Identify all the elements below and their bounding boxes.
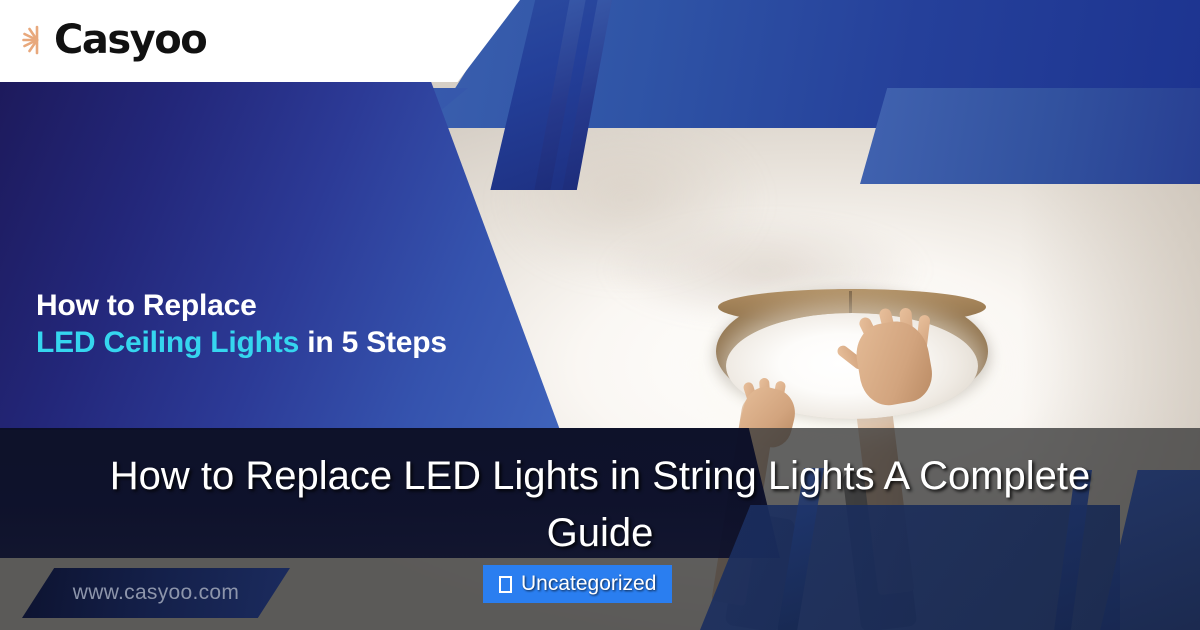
banner-headline-line1: How to Replace (36, 288, 536, 323)
watermark-url: www.casyoo.com (73, 581, 239, 605)
category-badge-label: Uncategorized (521, 572, 656, 596)
logo-wordmark: Casyoo (54, 20, 206, 60)
missing-glyph-box-icon (499, 576, 512, 593)
banner-headline-accent: LED Ceiling Lights (36, 326, 299, 359)
banner-headline-rest: in 5 Steps (299, 326, 447, 359)
banner-headline-line2: LED Ceiling Lights in 5 Steps (36, 325, 536, 360)
page-title: How to Replace LED Lights in String Ligh… (100, 448, 1100, 562)
og-card: How to Replace LED Ceiling Lights in 5 S… (0, 0, 1200, 630)
category-badge[interactable]: Uncategorized (483, 565, 672, 603)
blue-trapezoid-right (860, 88, 1200, 184)
site-logo[interactable]: Casyoo (22, 16, 206, 64)
site-watermark: www.casyoo.com (22, 568, 290, 618)
sunburst-icon (22, 25, 52, 55)
banner-text: How to Replace LED Ceiling Lights in 5 S… (36, 288, 536, 361)
